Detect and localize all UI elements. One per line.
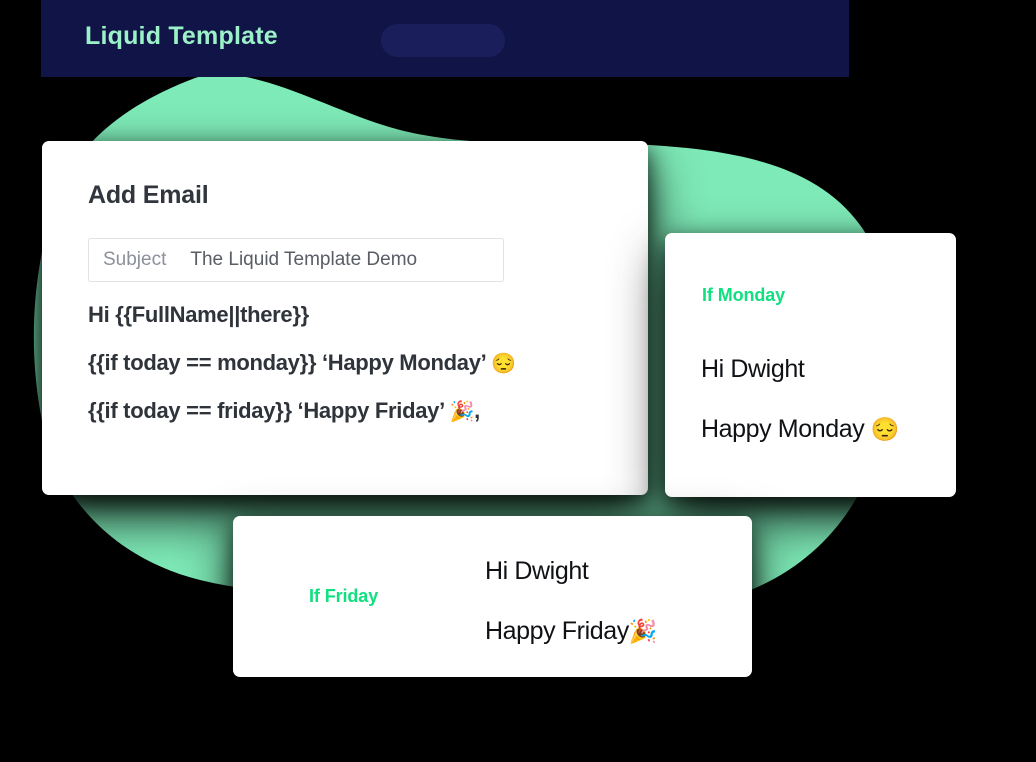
email-body-line-text: {{if today == monday}} ‘Happy Monday’ xyxy=(88,350,485,375)
add-email-title: Add Email xyxy=(88,181,208,210)
subject-value[interactable]: The Liquid Template Demo xyxy=(166,249,417,271)
pensive-face-emoji: 😔 xyxy=(491,353,516,375)
party-popper-emoji: 🎉 xyxy=(629,618,657,644)
party-popper-emoji: 🎉 xyxy=(450,401,475,423)
screenshot-stage: Liquid Template Add Email Subject The Li… xyxy=(0,0,1036,762)
if-monday-message-text: Happy Monday xyxy=(701,415,864,443)
email-body[interactable]: Hi {{FullName||there}} {{if today == mon… xyxy=(88,304,633,448)
if-monday-greeting: Hi Dwight xyxy=(701,355,804,384)
if-monday-message: Happy Monday 😔 xyxy=(701,415,899,444)
add-email-card: Add Email Subject The Liquid Template De… xyxy=(42,141,648,495)
email-body-line: Hi {{FullName||there}} xyxy=(88,304,633,326)
if-monday-label: If Monday xyxy=(702,285,785,306)
if-friday-greeting: Hi Dwight xyxy=(485,557,588,586)
page-title: Liquid Template xyxy=(85,22,278,51)
subject-label: Subject xyxy=(89,249,166,271)
if-friday-message-text: Happy Friday xyxy=(485,617,629,645)
email-body-line-text: {{if today == friday}} ‘Happy Friday’ xyxy=(88,398,444,423)
subject-input[interactable]: Subject The Liquid Template Demo xyxy=(88,238,504,282)
pensive-face-emoji: 😔 xyxy=(871,416,899,442)
if-friday-message: Happy Friday🎉 xyxy=(485,617,657,646)
email-body-line: {{if today == friday}} ‘Happy Friday’ 🎉, xyxy=(88,400,633,422)
header-pill-button[interactable] xyxy=(381,24,505,57)
email-body-line-trailing: , xyxy=(474,398,480,423)
app-header-bar: Liquid Template xyxy=(41,0,849,77)
if-friday-label: If Friday xyxy=(309,586,378,607)
if-monday-preview-card: If Monday Hi Dwight Happy Monday 😔 xyxy=(665,233,956,497)
email-body-line: {{if today == monday}} ‘Happy Monday’ 😔 xyxy=(88,352,633,374)
email-body-line-text: Hi {{FullName||there}} xyxy=(88,302,309,327)
if-friday-preview-card: If Friday Hi Dwight Happy Friday🎉 xyxy=(233,516,752,677)
